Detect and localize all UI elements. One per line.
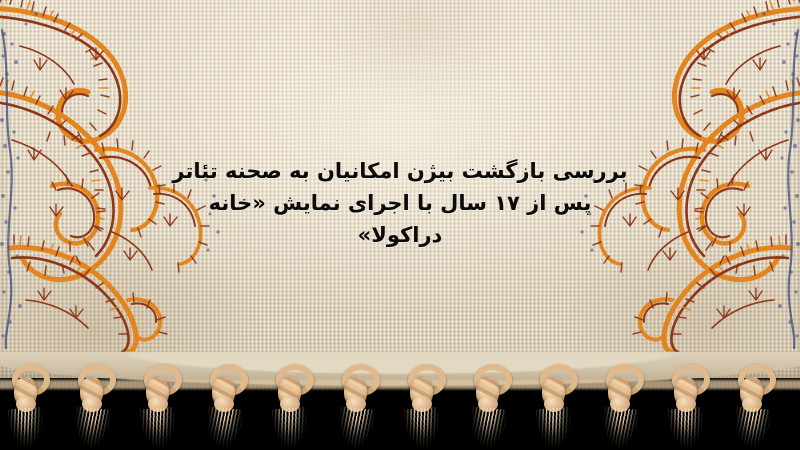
headline-line-3: دراکولا» — [170, 219, 630, 251]
tassel-threads-icon — [8, 407, 45, 449]
tassel — [388, 360, 454, 450]
tassel — [322, 360, 388, 450]
tassel-threads-icon — [601, 407, 638, 450]
tassel-threads-icon — [733, 407, 770, 450]
tassel-threads-icon — [73, 407, 110, 450]
tassel-threads-icon — [140, 407, 177, 449]
tassel-threads-icon — [337, 407, 374, 450]
tassel — [520, 360, 586, 450]
tassel — [454, 360, 520, 450]
tassel — [58, 360, 124, 450]
banner-image: بررسی بازگشت بیژن امکانیان به صحنه تئاتر… — [0, 0, 800, 450]
headline-line-2: پس از ۱۷ سال با اجرای نمایش «خانه — [170, 187, 630, 219]
tassel — [586, 360, 652, 450]
tassel-threads-icon — [404, 407, 441, 449]
tassel-fringe — [0, 360, 800, 450]
tassel — [718, 360, 784, 450]
tassel-threads-icon — [205, 407, 242, 450]
tassel — [256, 360, 322, 450]
headline-line-1: بررسی بازگشت بیژن امکانیان به صحنه تئاتر — [170, 155, 630, 187]
tassel — [190, 360, 256, 450]
tassel-threads-icon — [272, 407, 309, 449]
tassel-threads-icon — [668, 407, 705, 449]
tassel-threads-icon — [536, 407, 573, 449]
tassel-threads-icon — [469, 407, 506, 450]
page-title: بررسی بازگشت بیژن امکانیان به صحنه تئاتر… — [170, 155, 630, 251]
tassel — [652, 360, 718, 450]
tassel — [124, 360, 190, 450]
tassel — [0, 360, 58, 450]
